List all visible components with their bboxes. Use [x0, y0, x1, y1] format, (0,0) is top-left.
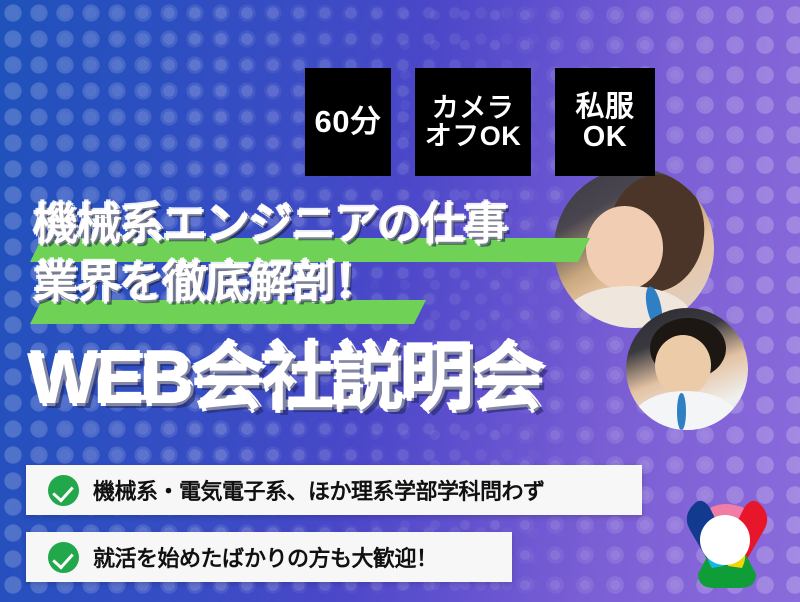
list-item-label: 就活を始めたばかりの方も大歓迎！ [93, 541, 437, 573]
duration-badge-line-1: 60分 [315, 106, 382, 139]
check-circle-icon [48, 475, 79, 506]
list-item: 就活を始めたばかりの方も大歓迎！ [26, 532, 512, 582]
duration-badge: 60分 [305, 68, 391, 176]
camera-off-badge: カメラ オフOK [415, 68, 531, 176]
page-title: WEB会社説明会 [30, 343, 542, 415]
casual-wear-badge-line-2: OK [583, 122, 628, 152]
photo-body-shape [633, 391, 738, 430]
subheading-line-2: 業界を徹底解剖！ [34, 254, 634, 312]
list-item-label: 機械系・電気電子系、ほか理系学部学科問わず [93, 474, 545, 506]
company-logo [664, 478, 786, 590]
subheading-line-1: 機械系エンジニアの仕事 [34, 196, 634, 254]
badge-group: 60分 カメラ オフOK 私服 OK [305, 68, 655, 176]
photo-lanyard-shape [677, 393, 686, 430]
check-circle-icon [48, 542, 79, 573]
casual-wear-badge: 私服 OK [555, 68, 655, 176]
person-photo-man [626, 308, 748, 430]
photo-face-shape [655, 335, 711, 396]
logo-petals [687, 501, 767, 588]
camera-off-badge-line-2: オフOK [425, 122, 522, 150]
camera-off-badge-line-1: カメラ [432, 94, 515, 122]
promo-poster: 60分 カメラ オフOK 私服 OK 機械系エンジニアの仕事 業界を徹底解剖！ … [0, 0, 800, 602]
list-item: 機械系・電気電子系、ほか理系学部学科問わず [26, 465, 642, 515]
subheading: 機械系エンジニアの仕事 業界を徹底解剖！ [34, 196, 634, 312]
casual-wear-badge-line-1: 私服 [575, 92, 634, 122]
